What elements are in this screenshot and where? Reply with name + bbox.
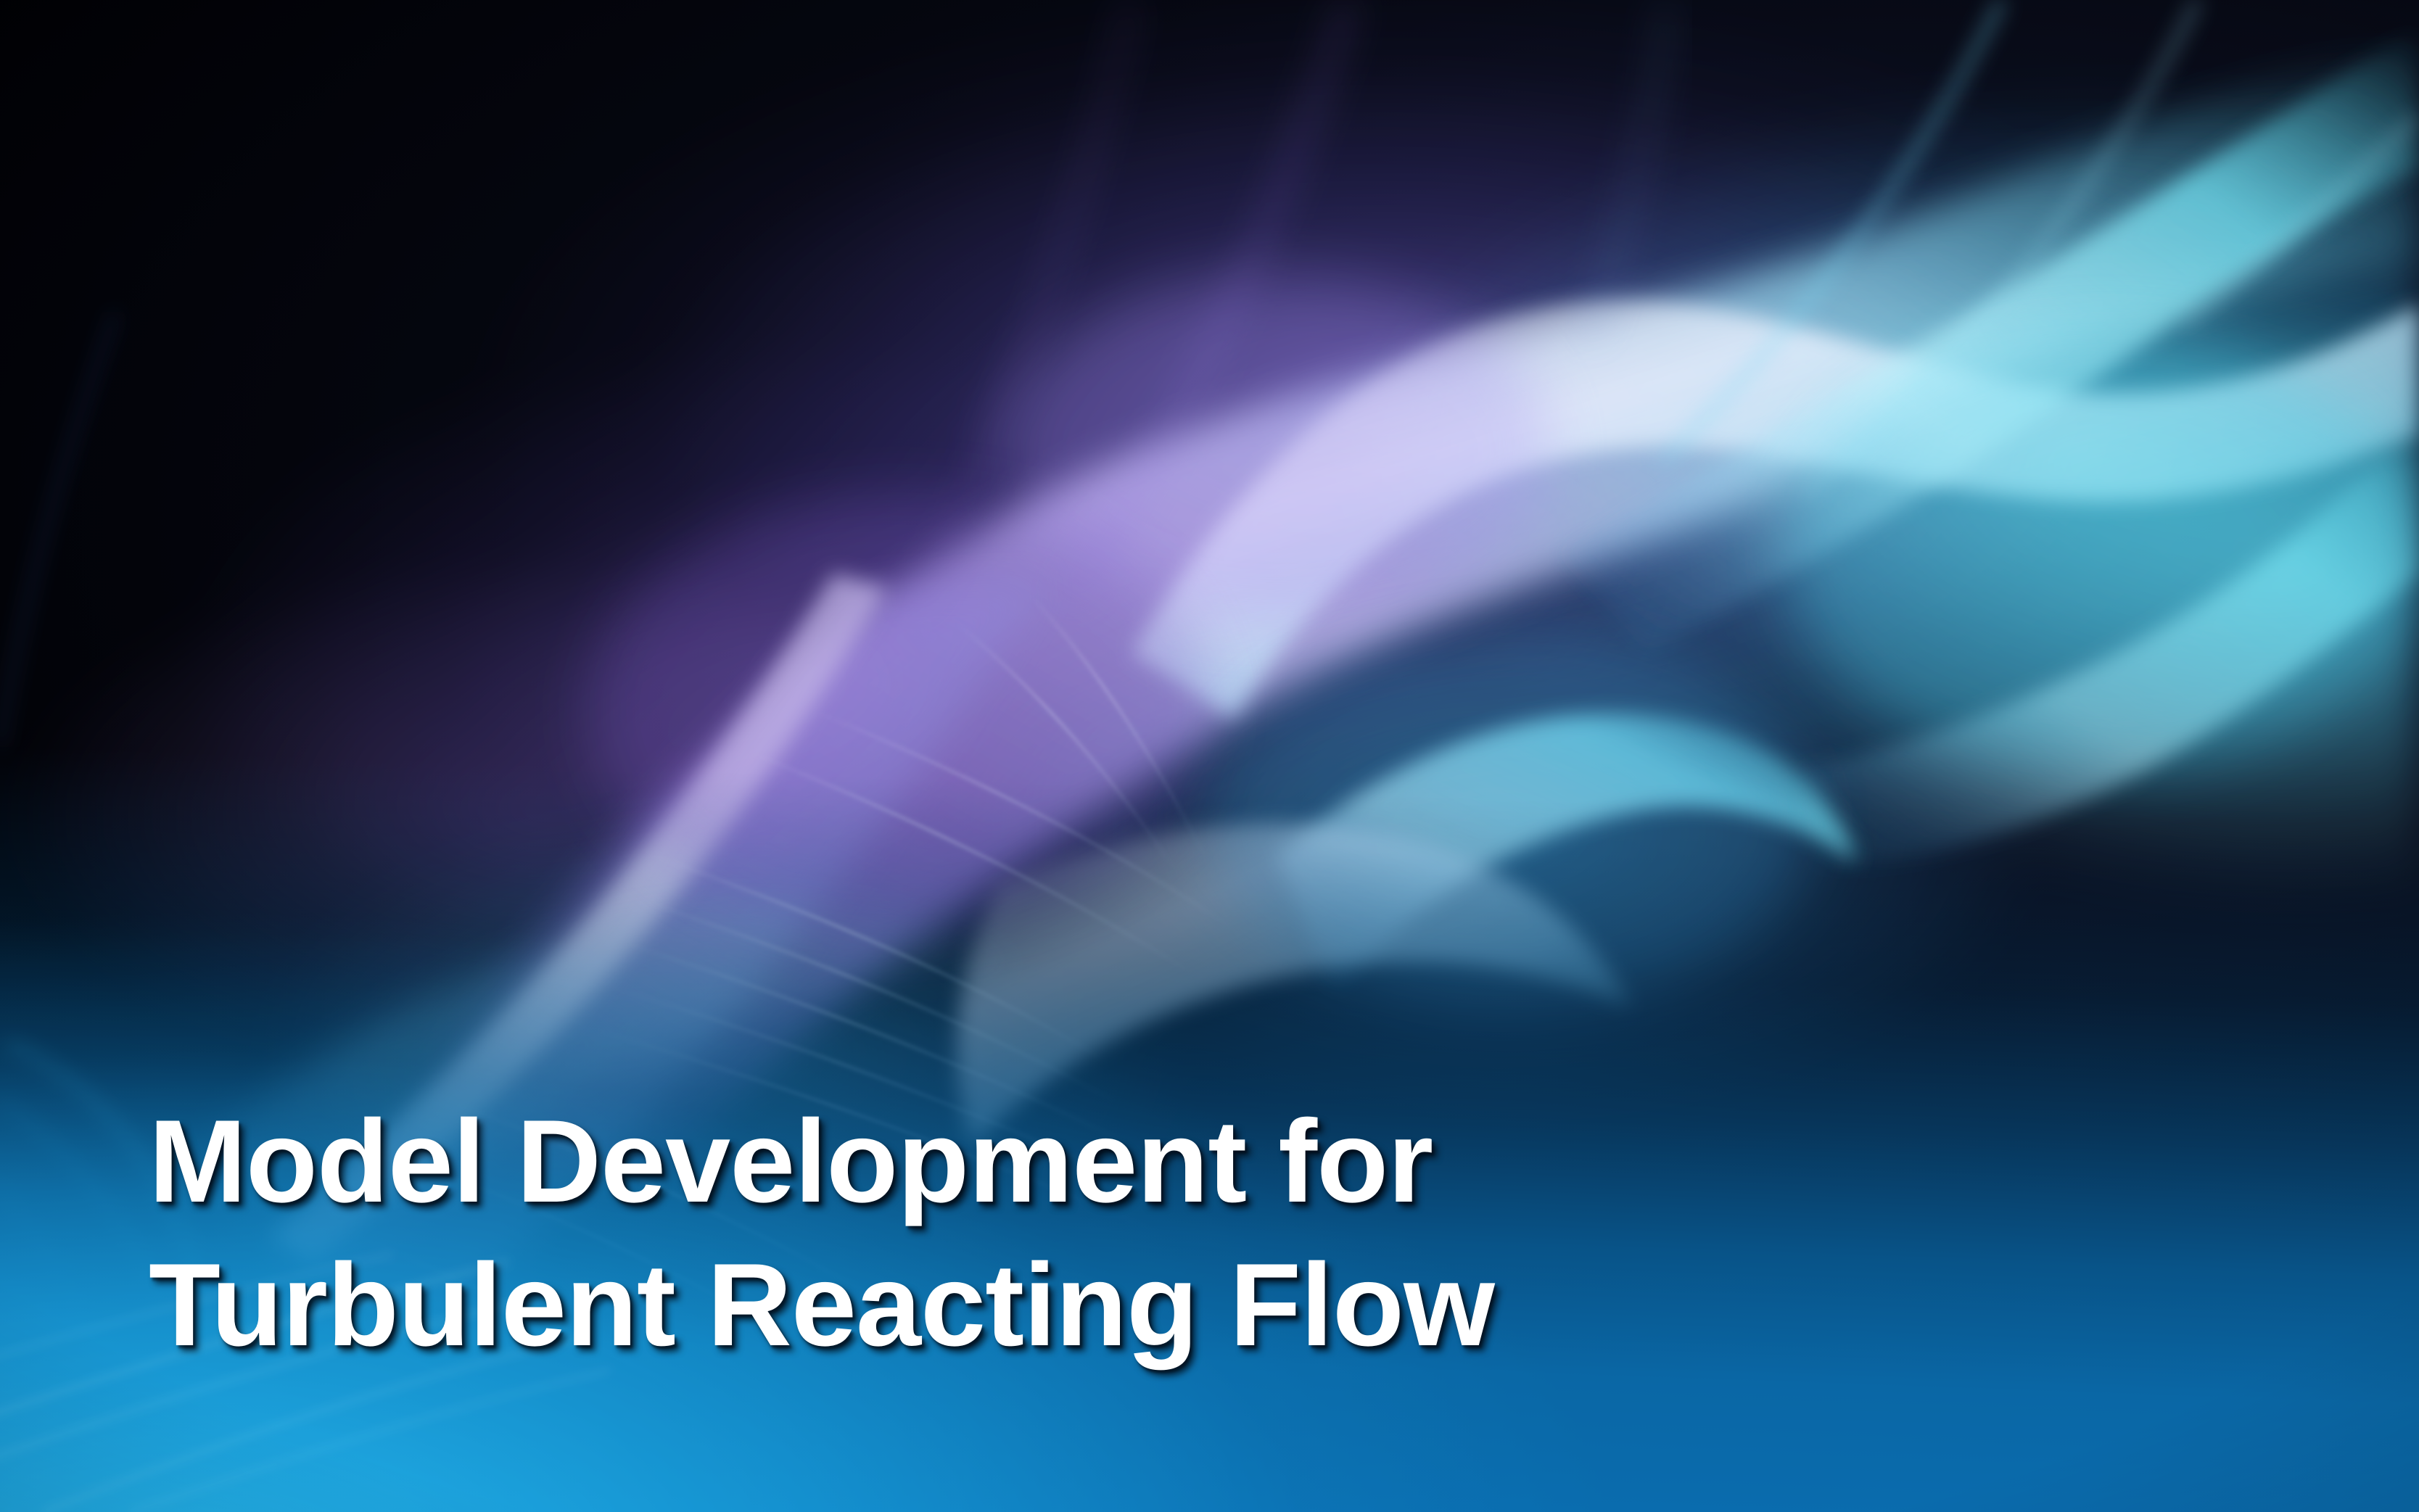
- title-line-2: Turbulent Reacting Flow: [149, 1234, 1853, 1377]
- haze-blue: [1204, 631, 1813, 1008]
- haze-violet: [588, 493, 1211, 928]
- wisp-blue-upper: [1588, 0, 1668, 341]
- arc-teal-left-3: [0, 1189, 102, 1353]
- streak-cyan-2: [1806, 0, 2198, 493]
- streak-cyan-3: [2183, 116, 2419, 326]
- haze-lavender: [1001, 276, 1552, 624]
- ribbon-cyan-upper: [1559, 26, 2419, 653]
- ribbon-cyan-hook: [1277, 714, 1857, 993]
- haze-cyan: [1784, 334, 2419, 769]
- slide-title: Model Development for Turbulent Reacting…: [149, 1090, 1853, 1376]
- title-line-1: Model Development for: [149, 1090, 1853, 1234]
- arc-teal-left-2: [0, 1102, 174, 1340]
- title-slide: Model Development for Turbulent Reacting…: [0, 0, 2419, 1512]
- ribbon-cyan-right-arc: [1799, 415, 2419, 870]
- wisp-purple-2: [1066, 0, 1349, 602]
- ribbon-lavender-crest: [1132, 300, 2419, 718]
- wisp-purple-1: [914, 0, 1132, 609]
- ribbon-purple-main: [406, 44, 2419, 1189]
- streak-cyan-1: [1661, 0, 2002, 464]
- wisp-topleft: [0, 312, 116, 747]
